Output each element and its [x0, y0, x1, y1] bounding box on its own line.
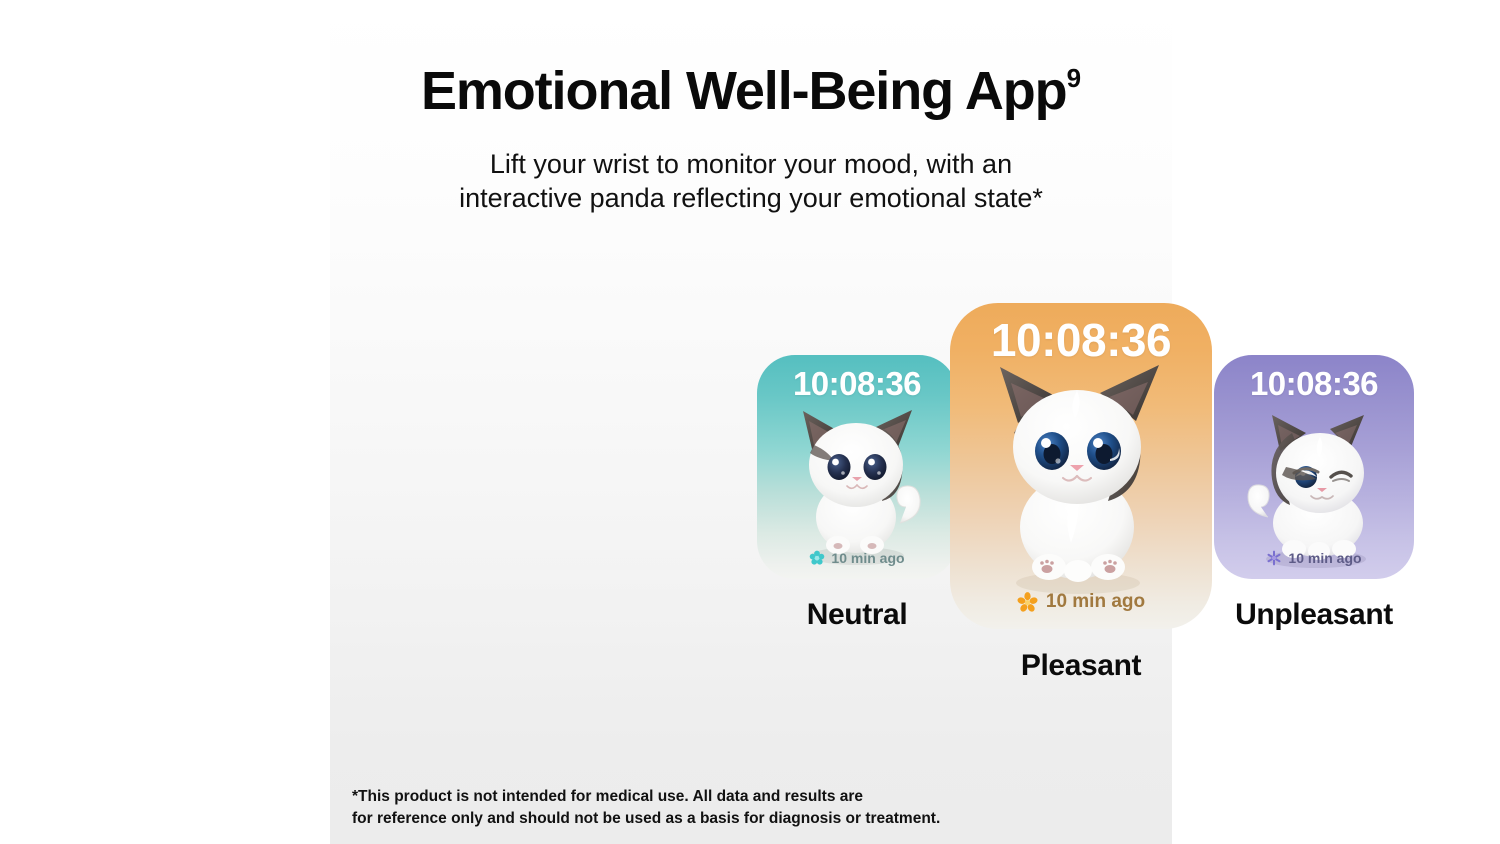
- ago-label-neutral: 10 min ago: [831, 550, 904, 566]
- mood-label-pleasant: Pleasant: [951, 649, 1211, 683]
- page-title-superscript: 9: [1067, 63, 1081, 93]
- flower-icon-purple: [1266, 550, 1282, 566]
- mood-card-neutral[interactable]: 10:08:36: [757, 355, 957, 579]
- page-subtitle-line1: Lift your wrist to monitor your mood, wi…: [490, 149, 1012, 179]
- ago-label-unpleasant: 10 min ago: [1288, 550, 1361, 566]
- mood-card-unpleasant[interactable]: 10:08:36: [1214, 355, 1414, 579]
- cat-avatar-pleasant: [956, 355, 1206, 605]
- content-panel: Emotional Well-Being App9 Lift your wris…: [330, 0, 1172, 844]
- mood-label-neutral: Neutral: [727, 598, 987, 632]
- mood-card-pleasant[interactable]: 10:08:36: [950, 303, 1212, 629]
- cat-avatar-neutral: [772, 393, 942, 573]
- last-update-pleasant: 10 min ago: [950, 591, 1212, 613]
- page-title-text: Emotional Well-Being App: [421, 61, 1067, 121]
- page-subtitle: Lift your wrist to monitor your mood, wi…: [330, 148, 1172, 216]
- page-title: Emotional Well-Being App9: [330, 62, 1172, 121]
- ago-label-pleasant: 10 min ago: [1046, 591, 1145, 613]
- footnote-disclaimer: *This product is not intended for medica…: [352, 786, 1112, 830]
- footnote-line2: for reference only and should not be use…: [352, 808, 1112, 830]
- mood-label-unpleasant: Unpleasant: [1184, 598, 1444, 632]
- last-update-unpleasant: 10 min ago: [1214, 550, 1414, 566]
- footnote-line1: *This product is not intended for medica…: [352, 788, 863, 805]
- flower-icon-orange: [1017, 592, 1038, 613]
- promo-graphic: Emotional Well-Being App9 Lift your wris…: [0, 0, 1500, 844]
- last-update-neutral: 10 min ago: [757, 550, 957, 566]
- flower-icon-teal: [809, 550, 825, 566]
- page-subtitle-line2: interactive panda reflecting your emotio…: [330, 182, 1172, 216]
